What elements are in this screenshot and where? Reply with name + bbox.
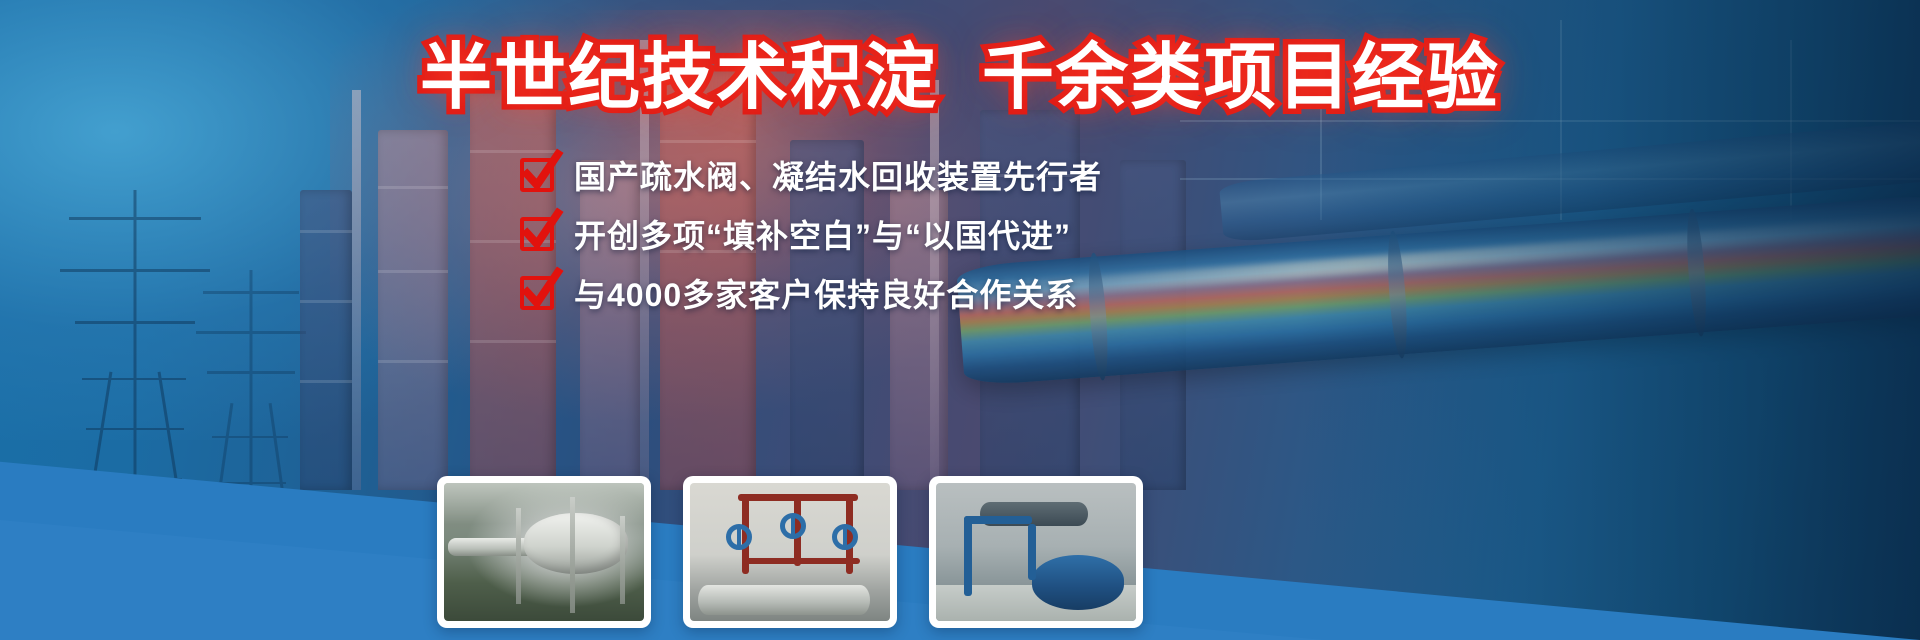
product-photo-gallery (437, 476, 1143, 628)
feature-item-label: 与4000多家客户保持良好合作关系 (574, 270, 1078, 316)
feature-item-label: 开创多项“填补空白”与“以国代进” (574, 211, 1071, 257)
check-box-icon (520, 158, 554, 192)
product-photo-card[interactable] (929, 476, 1143, 628)
check-box-icon (520, 276, 554, 310)
promo-banner: 半世纪技术积淀 千余类项目经验 国产疏水阀、凝结水回收装置先行者 开创多项“填补… (0, 0, 1920, 640)
refinery-stack-1 (352, 90, 361, 490)
banner-title: 半世纪技术积淀 千余类项目经验 (0, 42, 1920, 114)
refinery-tower-1 (300, 190, 352, 490)
check-box-icon (520, 217, 554, 251)
product-photo-card[interactable] (437, 476, 651, 628)
feature-list: 国产疏水阀、凝结水回收装置先行者 开创多项“填补空白”与“以国代进” 与4000… (520, 152, 1102, 316)
product-photo-card[interactable] (683, 476, 897, 628)
photo-blue-pressure-vessel (936, 483, 1136, 621)
photo-valve-manifold-unit (690, 483, 890, 621)
feature-item-label: 国产疏水阀、凝结水回收装置先行者 (574, 152, 1102, 198)
feature-item: 国产疏水阀、凝结水回收装置先行者 (520, 152, 1102, 198)
refinery-tower-2 (378, 130, 448, 490)
feature-item: 与4000多家客户保持良好合作关系 (520, 270, 1102, 316)
photo-condensate-recovery-vessel (444, 483, 644, 621)
feature-item: 开创多项“填补空白”与“以国代进” (520, 211, 1102, 257)
